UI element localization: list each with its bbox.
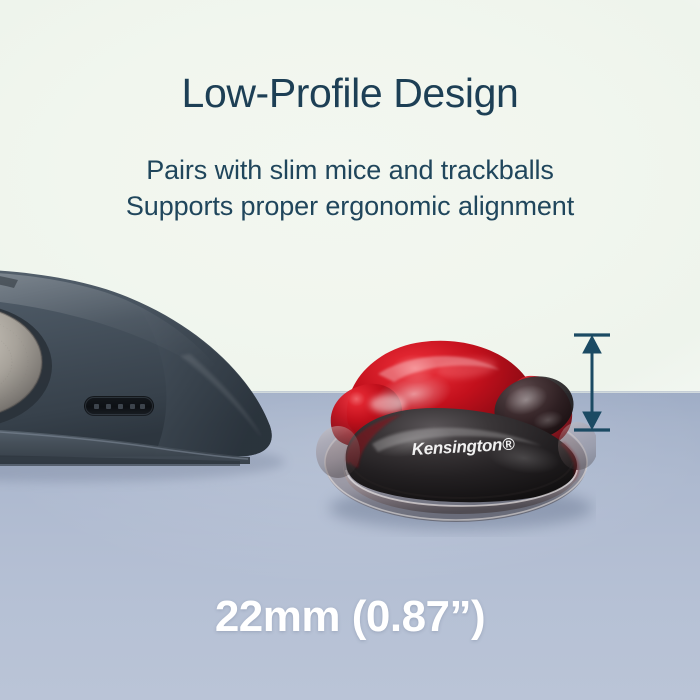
subtitle-line-1: Pairs with slim mice and trackballs bbox=[0, 155, 700, 186]
trackball-mouse-product bbox=[0, 258, 300, 508]
dimension-arrow-head-bottom bbox=[583, 412, 601, 429]
gel-wrist-rest-product: Kensington® bbox=[316, 312, 596, 537]
measurement-label: 22mm (0.87”) bbox=[0, 592, 700, 642]
product-marketing-image: Low-Profile Design Pairs with slim mice … bbox=[0, 0, 700, 700]
dimension-arrow bbox=[566, 325, 618, 440]
gel-left-ear bbox=[316, 426, 360, 478]
trackball-mouse-illustration bbox=[0, 258, 300, 508]
subtitle-line-2: Supports proper ergonomic alignment bbox=[0, 191, 700, 222]
gel-wrist-rest-illustration: Kensington® bbox=[316, 312, 596, 537]
dimension-arrow-icon bbox=[566, 325, 618, 440]
headline-title: Low-Profile Design bbox=[0, 70, 700, 117]
gel-red-secondary-highlight bbox=[370, 395, 406, 413]
dimension-arrow-head-top bbox=[583, 336, 601, 353]
